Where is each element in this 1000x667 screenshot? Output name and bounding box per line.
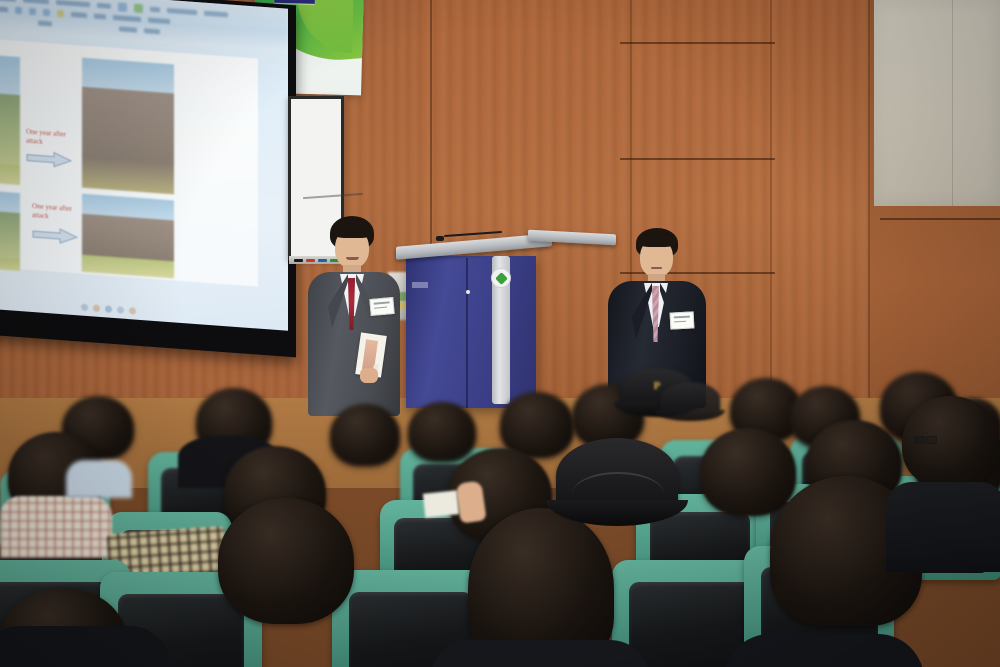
audience-hoodie-dark: [886, 482, 1000, 572]
cap-logo-letter: P: [654, 380, 661, 392]
microphone-head: [436, 236, 444, 241]
slide-photo-before-top: [0, 52, 20, 185]
glasses-lens-left: [914, 436, 925, 444]
slide-arrow-top: [26, 150, 72, 169]
audience-plaid-shirt: [0, 496, 112, 558]
taskbar-extra-icon[interactable]: [129, 307, 136, 315]
audience-lightblue-shirt: [66, 460, 132, 498]
slide-arrow-bottom: [32, 226, 78, 245]
presenter-right-fringe: [638, 234, 676, 247]
audience-head-b4: [408, 402, 476, 462]
lectern-corner-edge: [466, 258, 468, 408]
ribbon-icon-insert: [118, 2, 127, 12]
wall-seam-horizontal-1: [620, 42, 775, 44]
glasses-lens-right: [926, 436, 937, 444]
desktop-taskbar[interactable]: [81, 303, 265, 325]
slide-label-bottom: One year after attack: [32, 202, 76, 223]
presenter-right-mouth: [651, 267, 662, 269]
projection-screen-surface: One year after attack One year after att…: [0, 0, 288, 331]
projection-screen-frame: One year after attack One year after att…: [0, 0, 296, 357]
ribbon-icon-shape: [134, 3, 143, 13]
audience-head-m4: [700, 428, 796, 516]
audience-notebook: [423, 490, 459, 517]
presenter-left-hand: [360, 368, 378, 383]
presenter-left-name-badge: [369, 297, 394, 316]
presenter-right-name-badge: [670, 311, 695, 329]
slide-label-top: One year after attack: [26, 128, 70, 149]
slide-photo-before-bottom: [0, 188, 20, 271]
audience-head-f1: [218, 498, 354, 624]
taskbar-browser-icon[interactable]: [105, 305, 112, 313]
presenter-left-fringe: [333, 224, 373, 238]
audience-head-b3: [330, 404, 400, 466]
audience-shoulders-front-right: [724, 634, 924, 667]
audience-shoulders-front-center: [430, 640, 650, 667]
slide-photo-after-top: [82, 58, 174, 195]
audience-cap-secondary: [660, 382, 720, 416]
taskbar-window-icon[interactable]: [81, 304, 88, 312]
lectern-logo: [491, 268, 511, 288]
presenter-left: [302, 216, 406, 416]
taskbar-folder-icon[interactable]: [93, 304, 100, 312]
audience-eyeglasses: [914, 436, 938, 444]
wall-seam-horizontal-4: [880, 218, 1000, 220]
presenter-left-mouth: [346, 257, 359, 260]
taskbar-app-icon[interactable]: [117, 306, 124, 314]
lectern-label-plate: [412, 282, 428, 288]
auditorium-photo: 젼: [0, 0, 1000, 667]
acoustic-wall-panel: [874, 0, 1000, 206]
green-diamond-icon: [495, 272, 508, 285]
lectern-button[interactable]: [466, 290, 470, 294]
lectern-body: [406, 256, 536, 408]
slide-photo-after-bottom: [82, 194, 174, 279]
wall-seam-horizontal-2: [620, 158, 775, 160]
audience-shoulders-front-left: [0, 626, 170, 667]
presentation-slide: One year after attack One year after att…: [0, 38, 258, 286]
